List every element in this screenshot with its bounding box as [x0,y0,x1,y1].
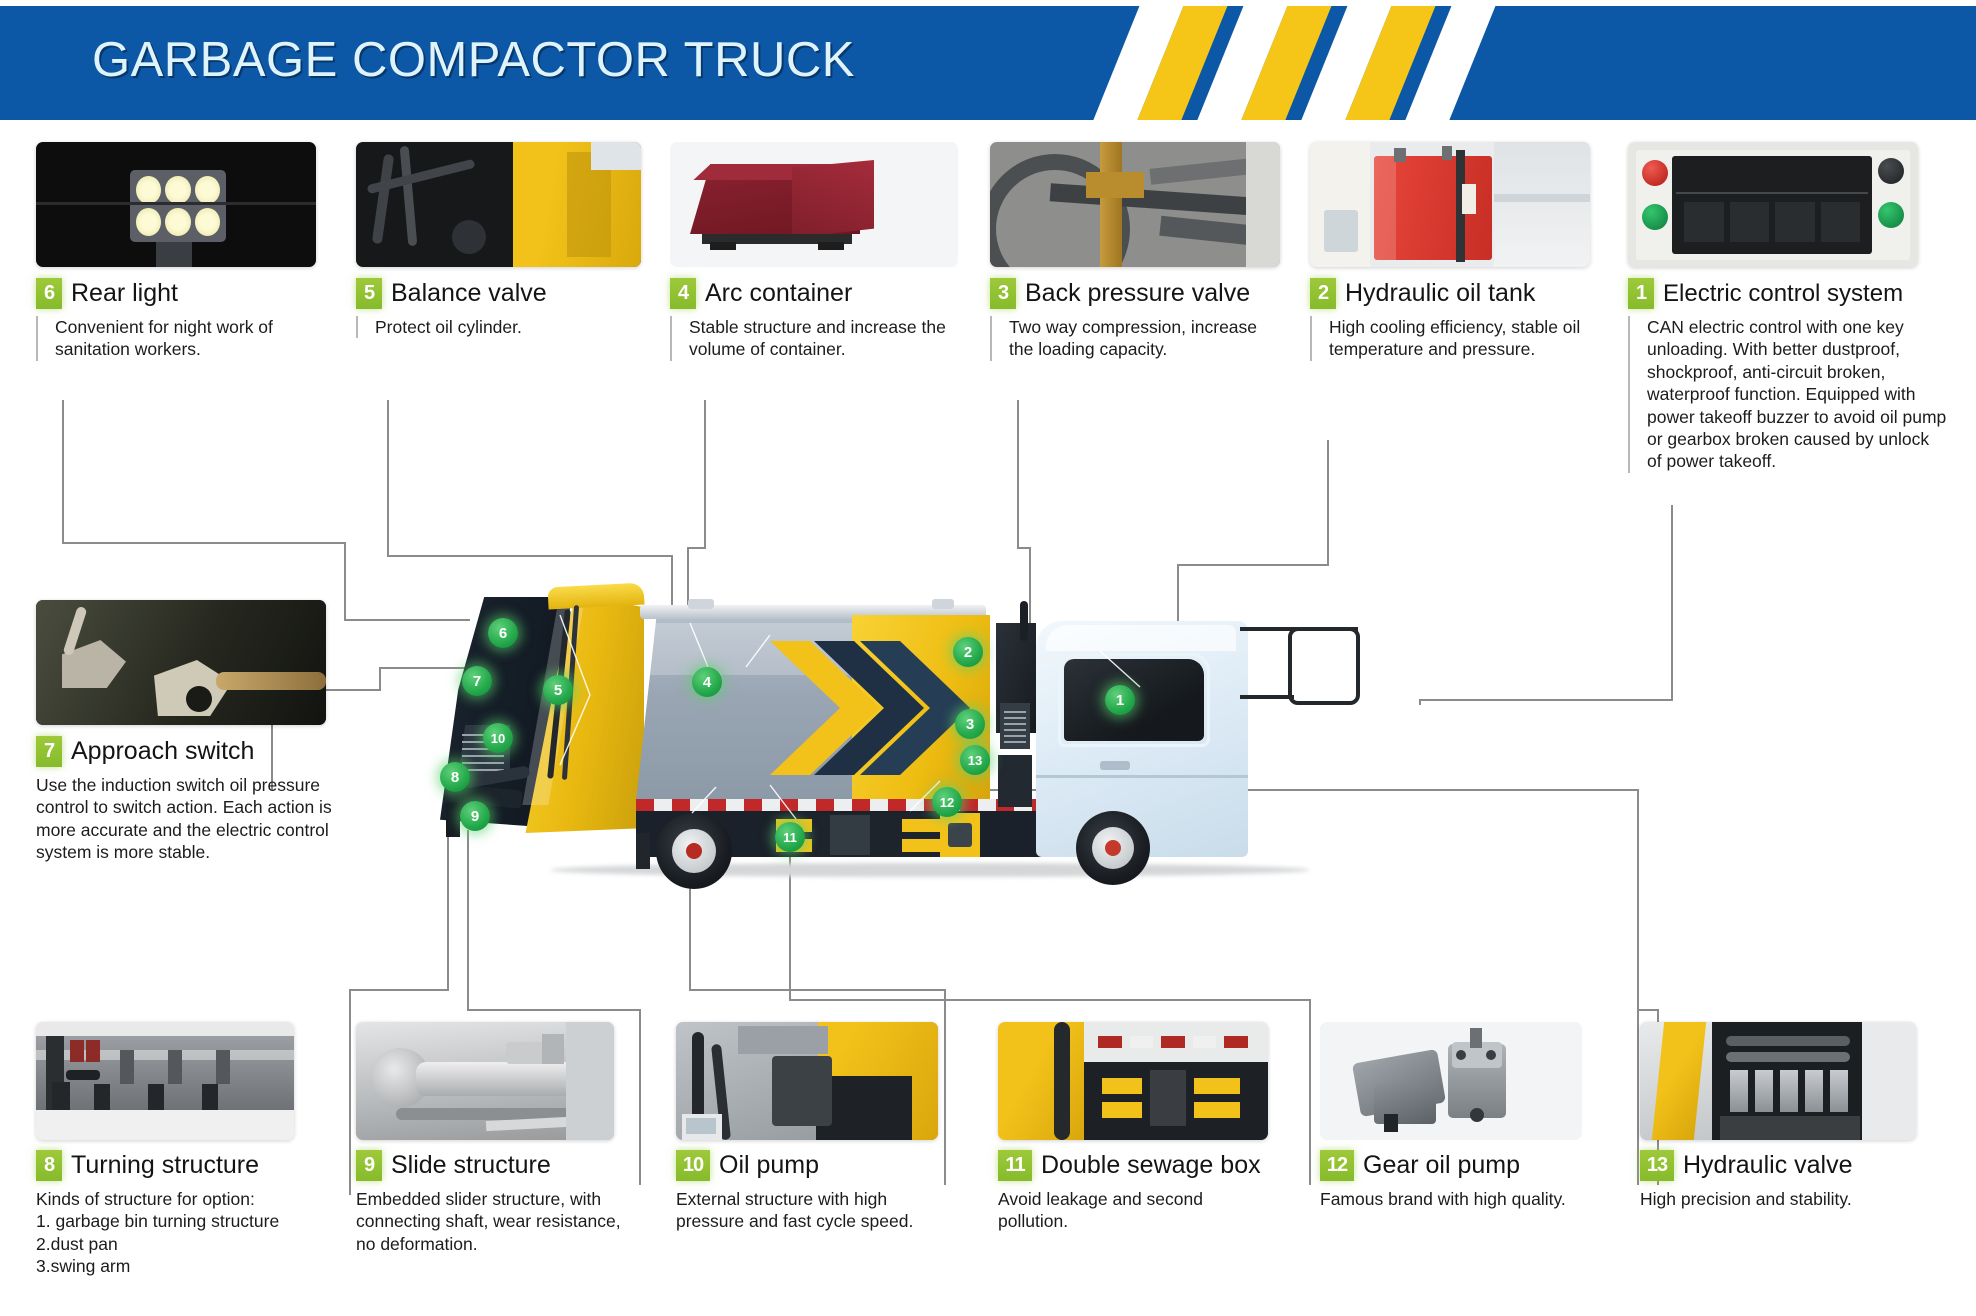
feature-card-2[interactable]: 2 Hydraulic oil tank High cooling effici… [1310,142,1590,361]
double-sewage-box-photo [998,1022,1268,1140]
truck-marker-11[interactable]: 11 [775,822,805,852]
feature-card-11[interactable]: 11 Double sewage box Avoid leakage and s… [998,1022,1274,1233]
feature-desc-11: Avoid leakage and second pollution. [998,1188,1274,1233]
truck-marker-6[interactable]: 6 [488,618,518,648]
feature-card-5[interactable]: 5 Balance valve Protect oil cylinder. [356,142,641,338]
approach-switch-photo [36,600,326,725]
truck-illustration: 6 7 5 10 8 9 4 11 2 3 13 12 1 [440,575,1550,895]
turning-structure-photo [36,1022,294,1140]
truck-marker-7[interactable]: 7 [462,666,492,696]
truck-marker-9[interactable]: 9 [460,801,490,831]
feature-title-7: Approach switch [71,737,254,766]
balance-valve-photo [356,142,641,267]
feature-card-1[interactable]: 1 Electric control system CAN electric c… [1628,142,1958,473]
feature-title-12: Gear oil pump [1363,1151,1520,1180]
feature-desc-4: Stable structure and increase the volume… [670,316,958,361]
page-title: GARBAGE COMPACTOR TRUCK [92,32,855,88]
feature-desc-2: High cooling efficiency, stable oil temp… [1310,316,1590,361]
hydraulic-oil-tank-photo [1310,142,1590,267]
header-banner: GARBAGE COMPACTOR TRUCK [0,6,1976,120]
feature-badge-7: 7 [36,736,62,767]
truck-marker-4[interactable]: 4 [692,667,722,697]
feature-desc-5: Protect oil cylinder. [356,316,641,338]
feature-card-3[interactable]: 3 Back pressure valve Two way compressio… [990,142,1280,361]
feature-card-13[interactable]: 13 Hydraulic valve High precision and st… [1640,1022,1930,1210]
feature-title-9: Slide structure [391,1151,551,1180]
feature-desc-8: Kinds of structure for option: 1. garbag… [36,1188,308,1278]
back-pressure-valve-photo [990,142,1280,267]
feature-badge-4: 4 [670,278,696,309]
feature-title-4: Arc container [705,279,852,308]
feature-desc-10: External structure with high pressure an… [676,1188,948,1233]
feature-title-1: Electric control system [1663,280,1903,308]
feature-badge-11: 11 [998,1150,1032,1181]
feature-card-8[interactable]: 8 Turning structure Kinds of structure f… [36,1022,308,1278]
truck-marker-2[interactable]: 2 [953,637,983,667]
truck-marker-10[interactable]: 10 [483,723,513,753]
gear-oil-pump-photo [1320,1022,1582,1140]
feature-badge-3: 3 [990,278,1016,309]
feature-badge-2: 2 [1310,278,1336,309]
feature-badge-5: 5 [356,278,382,309]
truck-marker-8[interactable]: 8 [440,762,470,792]
feature-desc-12: Famous brand with high quality. [1320,1188,1592,1210]
oil-pump-photo [676,1022,938,1140]
feature-title-2: Hydraulic oil tank [1345,279,1535,308]
feature-title-5: Balance valve [391,279,547,308]
feature-desc-13: High precision and stability. [1640,1188,1930,1210]
feature-badge-6: 6 [36,278,62,309]
electric-control-system-photo [1628,142,1918,267]
feature-badge-10: 10 [676,1150,710,1181]
truck-internal-leaders [440,575,1550,895]
feature-title-3: Back pressure valve [1025,279,1250,308]
arc-container-photo [670,142,958,267]
header-stripe-decoration [1116,6,1516,120]
feature-card-4[interactable]: 4 Arc container Stable structure and inc… [670,142,958,361]
truck-marker-3[interactable]: 3 [955,709,985,739]
rear-light-photo [36,142,316,267]
feature-badge-1: 1 [1628,278,1654,309]
truck-marker-12[interactable]: 12 [932,787,962,817]
feature-badge-13: 13 [1640,1150,1674,1181]
truck-marker-1[interactable]: 1 [1105,685,1135,715]
truck-marker-5[interactable]: 5 [543,675,573,705]
feature-card-7[interactable]: 7 Approach switch Use the induction swit… [36,600,336,864]
slide-structure-photo [356,1022,614,1140]
feature-title-8: Turning structure [71,1151,259,1180]
feature-card-6[interactable]: 6 Rear light Convenient for night work o… [36,142,316,361]
feature-desc-1: CAN electric control with one key unload… [1628,316,1948,473]
feature-desc-3: Two way compression, increase the loadin… [990,316,1280,361]
feature-card-10[interactable]: 10 Oil pump External structure with high… [676,1022,948,1233]
feature-badge-12: 12 [1320,1150,1354,1181]
feature-badge-9: 9 [356,1150,382,1181]
feature-card-12[interactable]: 12 Gear oil pump Famous brand with high … [1320,1022,1592,1210]
feature-title-6: Rear light [71,279,178,308]
feature-desc-7: Use the induction switch oil pressure co… [36,774,336,864]
feature-title-10: Oil pump [719,1151,819,1180]
feature-badge-8: 8 [36,1150,62,1181]
feature-desc-6: Convenient for night work of sanitation … [36,316,316,361]
feature-card-9[interactable]: 9 Slide structure Embedded slider struct… [356,1022,626,1255]
feature-title-13: Hydraulic valve [1683,1151,1853,1180]
hydraulic-valve-photo [1640,1022,1916,1140]
feature-title-11: Double sewage box [1041,1151,1261,1180]
truck-marker-13[interactable]: 13 [960,745,990,775]
feature-desc-9: Embedded slider structure, with connecti… [356,1188,626,1255]
